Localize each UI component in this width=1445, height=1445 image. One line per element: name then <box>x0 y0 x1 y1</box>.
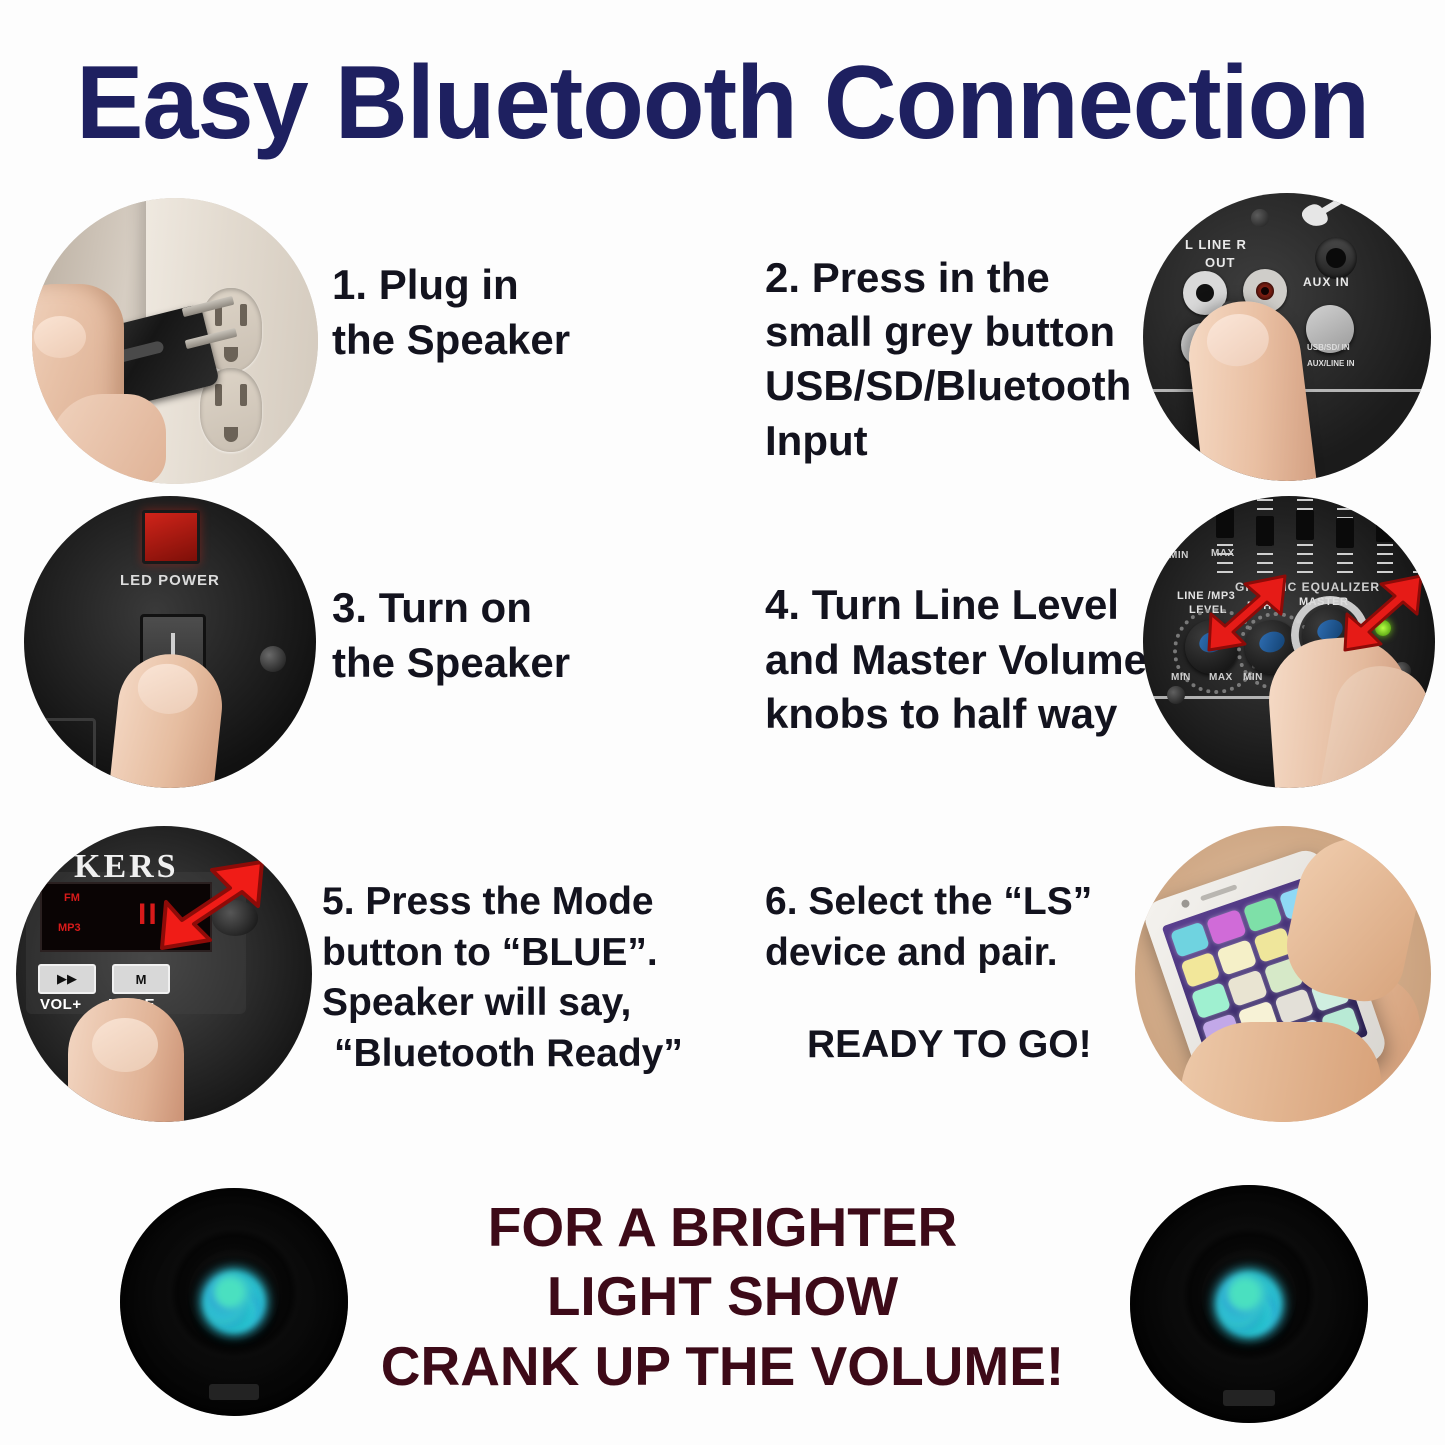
led-speaker-right <box>1130 1185 1368 1423</box>
graphic-equalizer-sliders <box>1217 496 1427 574</box>
step-5-line-3: Speaker will say, <box>322 978 683 1029</box>
led-dot <box>1227 1276 1263 1312</box>
step-4-text: 4. Turn Line Level and Master Volume kno… <box>765 578 1147 742</box>
panel-box-shape <box>38 718 96 782</box>
step-3-text: 3. Turn on the Speaker <box>332 581 570 690</box>
eq-fader-4[interactable] <box>1336 518 1354 548</box>
finger-nail <box>135 661 200 717</box>
earpiece-speaker <box>1200 884 1238 901</box>
guitar-glyph <box>1295 193 1361 231</box>
page-title: Easy Bluetooth Connection <box>22 44 1424 163</box>
vol-up-label: VOL+ <box>40 996 82 1013</box>
app-icon[interactable] <box>1217 939 1257 976</box>
step-1-line-1: 1. Plug in <box>332 258 570 313</box>
step-1-line-2: the Speaker <box>332 313 570 368</box>
mode-button[interactable]: M <box>112 964 170 994</box>
step-4-line-1: 4. Turn Line Level <box>765 578 1147 633</box>
eq-fader-5[interactable] <box>1376 512 1394 542</box>
step-5-line-4: “Bluetooth Ready” <box>334 1029 683 1080</box>
max-label-top: MAX <box>1211 548 1235 559</box>
ready-to-go-text: READY TO GO! <box>807 1020 1092 1071</box>
step-2-line-2: small grey button <box>765 305 1131 359</box>
hand-fingers <box>50 394 166 484</box>
max-label-1: MAX <box>1209 672 1233 683</box>
step-2-line-3: USB/SD/Bluetooth <box>765 359 1131 413</box>
step-5-line-1: 5. Press the Mode <box>322 877 683 928</box>
display-mp3-label: MP3 <box>58 922 81 934</box>
pressing-finger <box>1183 295 1320 481</box>
phone-pairing-photo <box>1135 826 1431 1122</box>
pressing-finger <box>105 649 227 788</box>
panel-screw-1 <box>1251 209 1269 227</box>
line-out-label: L LINE R <box>1185 237 1247 252</box>
app-icon[interactable] <box>1191 982 1231 1019</box>
app-icon[interactable] <box>1274 988 1314 1025</box>
finger-nail <box>1204 311 1272 370</box>
step-2-text: 2. Press in the small grey button USB/SD… <box>765 251 1131 468</box>
thumb-nail <box>34 316 86 358</box>
pressing-hand <box>68 998 184 1122</box>
min-label-1: MIN <box>1171 672 1191 683</box>
app-icon[interactable] <box>1180 952 1220 989</box>
step-6-text: 6. Select the “LS” device and pair. READ… <box>765 877 1092 1071</box>
red-power-indicator <box>142 510 200 564</box>
red-arrow-right-icon <box>1341 570 1427 654</box>
eq-fader-6[interactable] <box>1412 520 1430 550</box>
led-power-label: LED POWER <box>120 572 220 589</box>
min-label-2: MIN <box>1243 672 1263 683</box>
step-4-line-3: knobs to half way <box>765 687 1147 742</box>
eq-fader-2[interactable] <box>1256 516 1274 546</box>
red-arrow-icon <box>156 858 268 954</box>
aux-in-label: AUX IN <box>1303 275 1350 289</box>
step-6-line-1: 6. Select the “LS” <box>765 877 1092 928</box>
volume-knobs-photo: GRAPHIC EQUALIZER MIN MAX LINE /MP3 LEVE… <box>1143 496 1435 788</box>
aux-line-label: AUX/LINE IN <box>1307 359 1355 368</box>
step-3-line-1: 3. Turn on <box>332 581 570 636</box>
finger-nail <box>92 1018 158 1072</box>
display-fm-label: FM <box>64 892 80 904</box>
panel-screw-3 <box>260 646 286 672</box>
app-icon[interactable] <box>1227 970 1267 1007</box>
step-1-text: 1. Plug in the Speaker <box>332 258 570 367</box>
usb-sd-label: USB/SD/ IN <box>1307 343 1350 352</box>
mode-button-photo: KERS FM MP3 II ▶▶ M VOL+ MODE <box>16 826 312 1122</box>
step-5-line-2: button to “BLUE”. <box>322 928 683 979</box>
out-label: OUT <box>1205 255 1235 270</box>
rear-panel-grey-button-photo: L LINE R OUT AUX IN USB/SD/ IN AUX/LINE … <box>1143 193 1431 481</box>
step-2-line-1: 2. Press in the <box>765 251 1131 305</box>
hand-lower <box>1181 1022 1381 1122</box>
step-4-line-2: and Master Volume <box>765 633 1147 688</box>
vol-up-button[interactable]: ▶▶ <box>38 964 96 994</box>
app-icon[interactable] <box>1242 897 1282 934</box>
step-2-line-4: Input <box>765 414 1131 468</box>
eq-fader-1[interactable] <box>1216 508 1234 538</box>
step-5-text: 5. Press the Mode button to “BLUE”. Spea… <box>322 877 683 1080</box>
power-switch-photo: LED POWER WER <box>24 496 316 788</box>
min-label-top: MIN <box>1169 550 1189 561</box>
guitar-icon <box>1295 193 1365 235</box>
app-icon[interactable] <box>1170 921 1210 958</box>
eq-fader-3[interactable] <box>1296 510 1314 540</box>
aux-in-jack <box>1315 237 1357 279</box>
app-icon[interactable] <box>1206 909 1246 946</box>
infographic-page: Easy Bluetooth Connection 1. Plug in the… <box>0 0 1445 1445</box>
panel-screw-4 <box>1167 686 1185 704</box>
red-arrow-left-icon <box>1205 570 1291 654</box>
speaker-badge <box>1223 1390 1275 1407</box>
plug-into-outlet-photo <box>32 198 318 484</box>
front-camera <box>1180 899 1190 909</box>
step-3-line-2: the Speaker <box>332 636 570 691</box>
step-6-line-2: device and pair. <box>765 928 1092 979</box>
